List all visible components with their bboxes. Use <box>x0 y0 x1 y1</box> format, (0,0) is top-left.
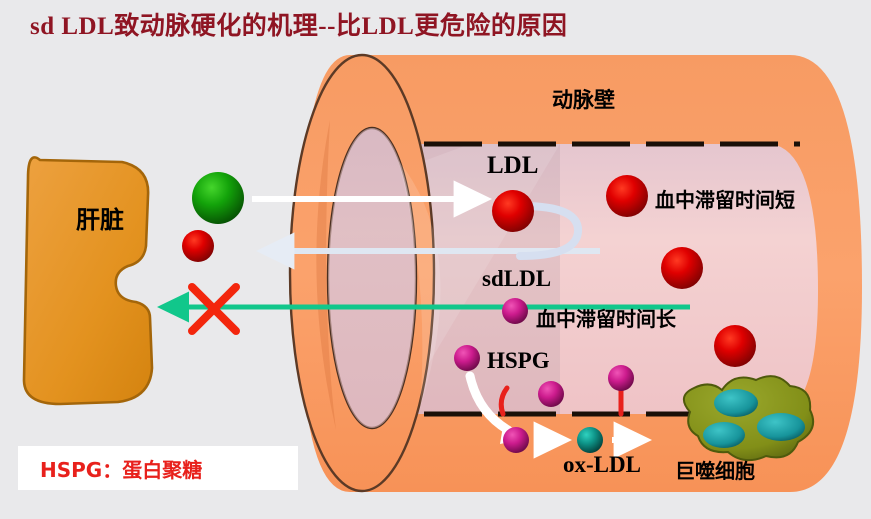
liver-shape <box>24 157 152 404</box>
legend-box: HSPG：蛋白聚糖 <box>18 446 298 490</box>
diagram-canvas: sd LDL致动脉硬化的机理--比LDL更危险的原因 <box>0 0 871 519</box>
label-artery-wall: 动脉壁 <box>552 84 615 114</box>
label-ox-ldl: ox-LDL <box>563 452 641 478</box>
sdldl-lumen <box>502 298 528 324</box>
label-ldl: LDL <box>487 152 538 180</box>
sdldl-subendothelial <box>503 427 529 453</box>
ldl-receptor <box>192 172 244 224</box>
label-blood-retention-long: 血中滞留时间长 <box>536 303 676 332</box>
label-liver: 肝脏 <box>76 200 124 235</box>
sdldl-bound-right <box>608 365 634 391</box>
macrophage-nucleus-3 <box>703 422 745 448</box>
ldl-in-lumen-right-mid <box>661 247 703 289</box>
legend-text: HSPG：蛋白聚糖 <box>40 454 202 483</box>
macrophage-nucleus-2 <box>757 413 805 441</box>
ldl-in-lumen-right-top <box>606 175 648 217</box>
ldl-in-lumen-right-low <box>714 325 756 367</box>
label-macrophage: 巨噬细胞 <box>675 455 755 484</box>
sdldl-bound-left <box>538 381 564 407</box>
artery-diagram-svg <box>0 0 871 519</box>
label-sdldl: sdLDL <box>482 266 551 292</box>
ldl-near-liver <box>182 230 214 262</box>
label-hspg: HSPG <box>487 348 550 374</box>
liver-organ <box>24 157 152 404</box>
ox-ldl-particle <box>577 427 603 453</box>
macrophage-nucleus-1 <box>714 389 758 417</box>
sdldl-free <box>454 345 480 371</box>
label-blood-retention-short: 血中滞留时间短 <box>655 184 795 213</box>
ldl-in-lumen-left <box>492 190 534 232</box>
